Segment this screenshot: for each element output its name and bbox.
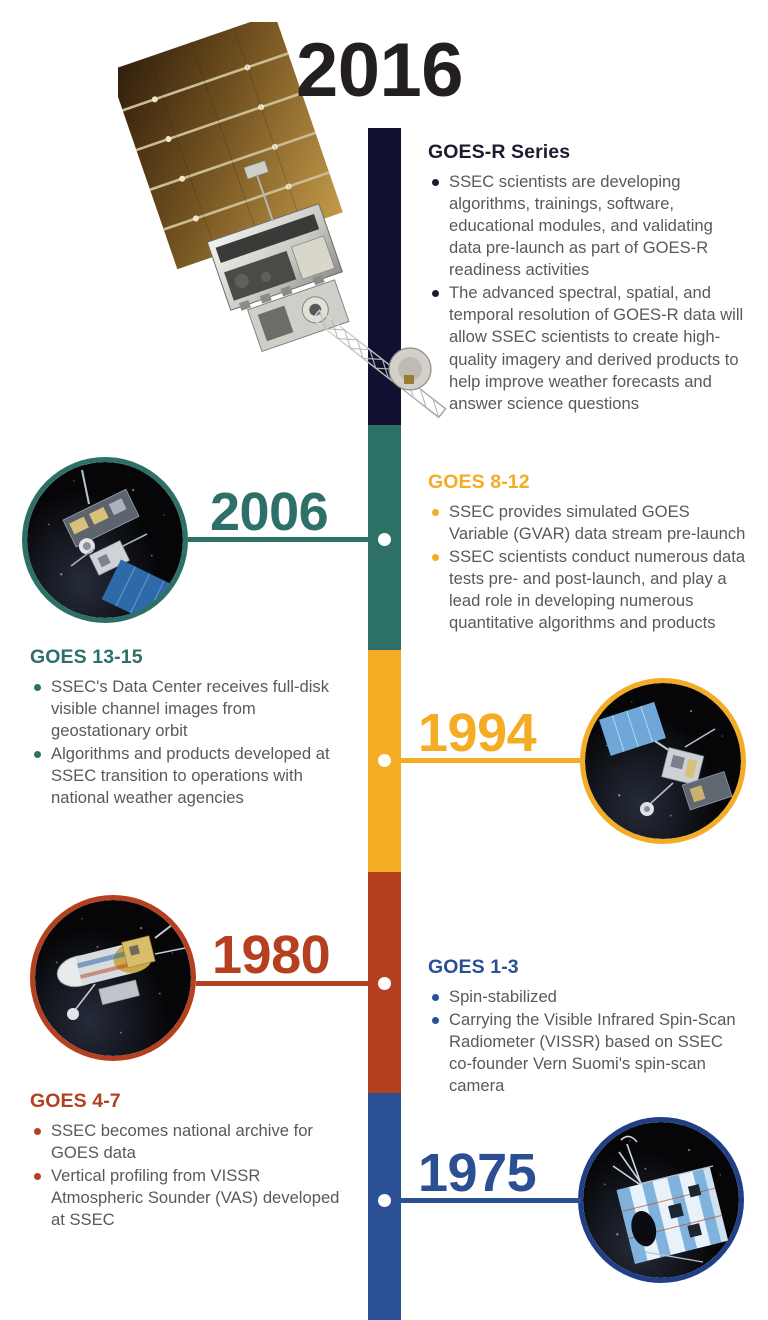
timeline-node-1994: [378, 754, 391, 767]
goes-13-15-satellite-photo: [22, 457, 188, 623]
goes-1-3-satellite-photo: [578, 1117, 744, 1283]
year-label-1975: 1975: [418, 1146, 536, 1200]
timeline-node-1980: [378, 977, 391, 990]
bullet-list: SSEC becomes national archive for GOES d…: [30, 1120, 340, 1231]
bullet-item: Spin-stabilized: [428, 986, 748, 1008]
satellite-graphic: [585, 683, 741, 839]
bullet-item: SSEC becomes national archive for GOES d…: [30, 1120, 340, 1164]
section-heading: GOES 8-12: [428, 471, 748, 494]
bullet-item: Algorithms and products developed at SSE…: [30, 743, 340, 809]
bullet-item: SSEC scientists conduct numerous data te…: [428, 546, 748, 634]
bullet-list: SSEC's Data Center receives full-disk vi…: [30, 676, 340, 809]
section-goes-4-7: GOES 4-7 SSEC becomes national archive f…: [30, 1090, 340, 1232]
bullet-item: SSEC scientists are developing algorithm…: [428, 171, 748, 281]
section-heading: GOES-R Series: [428, 141, 748, 164]
timeline-node-2006: [378, 533, 391, 546]
satellite-graphic: [27, 462, 183, 618]
goes-timeline-infographic: 2016 GOES-R Series SSEC scientists are d…: [0, 0, 768, 1320]
goes-8-12-satellite-photo: [580, 678, 746, 844]
section-goes-1-3: GOES 1-3 Spin-stabilized Carrying the Vi…: [428, 956, 748, 1098]
section-heading: GOES 1-3: [428, 956, 748, 979]
bullet-list: SSEC provides simulated GOES Variable (G…: [428, 501, 748, 634]
section-heading: GOES 13-15: [30, 646, 340, 669]
satellite-graphic: [583, 1122, 739, 1278]
section-goes-8-12: GOES 8-12 SSEC provides simulated GOES V…: [428, 471, 748, 635]
bullet-item: The advanced spectral, spatial, and temp…: [428, 282, 748, 414]
section-goes-r-series: GOES-R Series SSEC scientists are develo…: [428, 141, 748, 416]
section-heading: GOES 4-7: [30, 1090, 340, 1113]
year-label-1980: 1980: [212, 928, 330, 982]
bullet-list: SSEC scientists are developing algorithm…: [428, 171, 748, 415]
bullet-item: SSEC provides simulated GOES Variable (G…: [428, 501, 748, 545]
satellite-graphic: [35, 900, 191, 1056]
year-label-2016: 2016: [296, 33, 463, 109]
year-label-2006: 2006: [210, 485, 328, 539]
bullet-item: SSEC's Data Center receives full-disk vi…: [30, 676, 340, 742]
bullet-item: Vertical profiling from VISSR Atmospheri…: [30, 1165, 340, 1231]
timeline-node-1975: [378, 1194, 391, 1207]
bullet-item: Carrying the Visible Infrared Spin-Scan …: [428, 1009, 748, 1097]
section-goes-13-15: GOES 13-15 SSEC's Data Center receives f…: [30, 646, 340, 810]
year-label-1994: 1994: [418, 706, 536, 760]
bullet-list: Spin-stabilized Carrying the Visible Inf…: [428, 986, 748, 1097]
goes-4-7-satellite-photo: [30, 895, 196, 1061]
